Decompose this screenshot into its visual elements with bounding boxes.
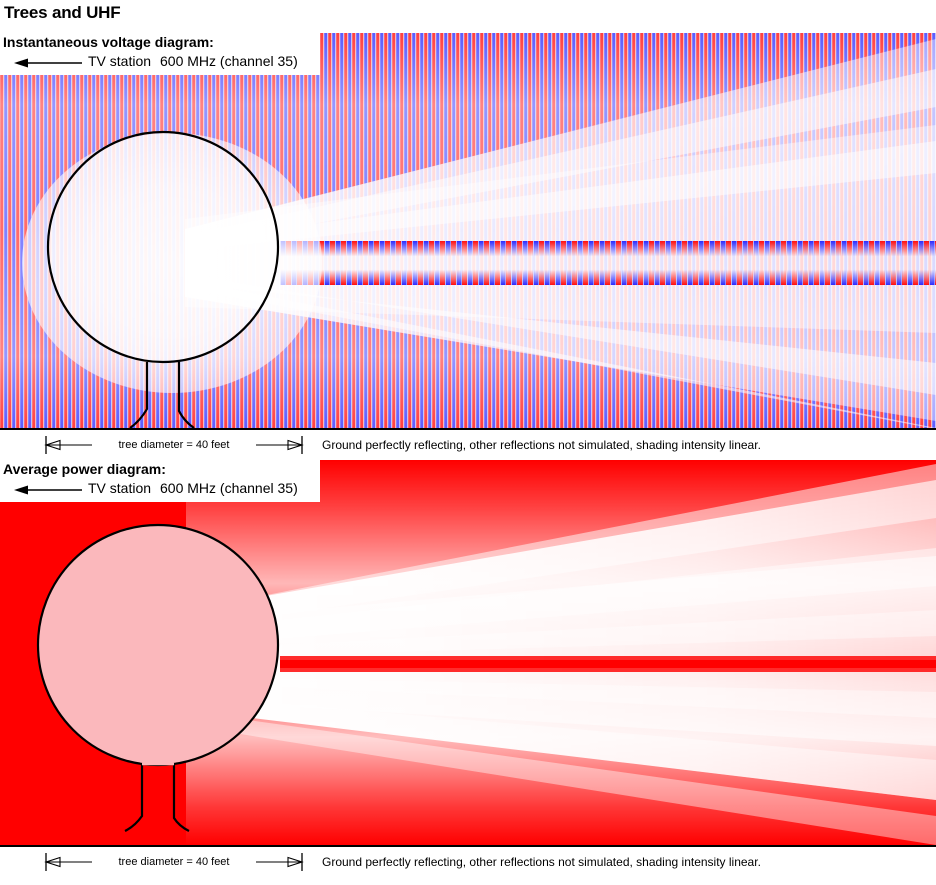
scale-bar-label-voltage: tree diameter = 40 feet <box>44 434 304 456</box>
page-root: Trees and UHF <box>0 0 936 883</box>
voltage-caption-note: Ground perfectly reflecting, other refle… <box>322 430 761 460</box>
instantaneous-voltage-diagram: Instantaneous voltage diagram: TV statio… <box>0 33 936 428</box>
power-caption-strip: tree diameter = 40 feet Ground perfectly… <box>0 845 936 885</box>
voltage-wave-field <box>0 33 936 428</box>
power-label-box: Average power diagram: TV station 600 MH… <box>0 460 320 502</box>
scale-bar-voltage: tree diameter = 40 feet <box>44 434 304 456</box>
power-caption-note: Ground perfectly reflecting, other refle… <box>322 847 761 877</box>
left-arrow-icon <box>12 483 84 495</box>
average-power-diagram: Average power diagram: TV station 600 MH… <box>0 460 936 845</box>
power-source-label: TV station <box>88 479 151 497</box>
power-frequency-label: 600 MHz (channel 35) <box>160 479 298 497</box>
scale-bar-label-power: tree diameter = 40 feet <box>44 851 304 873</box>
left-arrow-icon <box>12 56 84 68</box>
power-diagram-title: Average power diagram: <box>3 461 166 478</box>
power-field <box>0 460 936 845</box>
page-title: Trees and UHF <box>4 3 120 23</box>
scale-bar-power: tree diameter = 40 feet <box>44 851 304 873</box>
voltage-caption-strip: tree diameter = 40 feet Ground perfectly… <box>0 428 936 460</box>
voltage-label-box: Instantaneous voltage diagram: TV statio… <box>0 33 320 75</box>
voltage-frequency-label: 600 MHz (channel 35) <box>160 52 298 70</box>
voltage-diagram-title: Instantaneous voltage diagram: <box>3 34 214 51</box>
voltage-source-label: TV station <box>88 52 151 70</box>
